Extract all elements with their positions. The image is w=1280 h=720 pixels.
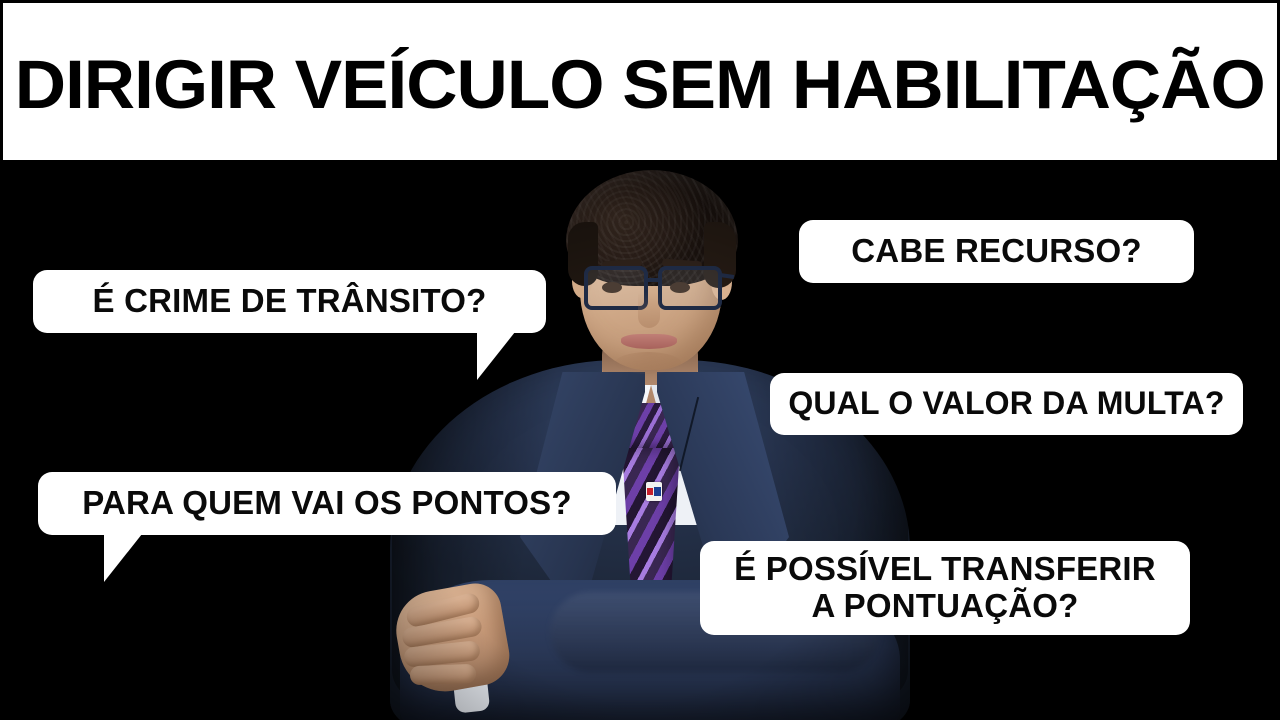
speech-bubble-tail <box>477 332 515 380</box>
page-title: DIRIGIR VEÍCULO SEM HABILITAÇÃO <box>15 44 1265 119</box>
title-bar: DIRIGIR VEÍCULO SEM HABILITAÇÃO <box>3 3 1277 160</box>
speech-bubble-pontos-text: PARA QUEM VAI OS PONTOS? <box>82 485 571 522</box>
eyeglass-lens-right <box>658 266 722 310</box>
speech-bubble-multa-text: QUAL O VALOR DA MULTA? <box>788 386 1224 422</box>
nose <box>638 292 660 328</box>
speech-bubble-transferir: É POSSÍVEL TRANSFERIR A PONTUAÇÃO? <box>700 541 1190 635</box>
speech-bubble-crime-text: É CRIME DE TRÂNSITO? <box>93 283 487 320</box>
oab-lapel-pin-icon <box>646 482 662 501</box>
speech-bubble-tail <box>104 534 142 582</box>
finger <box>410 664 477 685</box>
speech-bubble-multa: QUAL O VALOR DA MULTA? <box>770 373 1243 435</box>
speech-bubble-transferir-text: É POSSÍVEL TRANSFERIR A PONTUAÇÃO? <box>734 551 1156 625</box>
speech-bubble-crime: É CRIME DE TRÂNSITO? <box>33 270 546 333</box>
mouth <box>621 334 677 349</box>
speech-bubble-pontos: PARA QUEM VAI OS PONTOS? <box>38 472 616 535</box>
chin <box>615 352 681 374</box>
speech-bubble-recurso: CABE RECURSO? <box>799 220 1194 283</box>
eyeglass-bridge <box>648 278 660 282</box>
thumbnail-canvas: DIRIGIR VEÍCULO SEM HABILITAÇÃO <box>0 0 1280 720</box>
speech-bubble-transferir-line2: A PONTUAÇÃO? <box>811 587 1078 624</box>
speech-bubble-recurso-text: CABE RECURSO? <box>851 233 1141 270</box>
speech-bubble-transferir-line1: É POSSÍVEL TRANSFERIR <box>734 550 1156 587</box>
